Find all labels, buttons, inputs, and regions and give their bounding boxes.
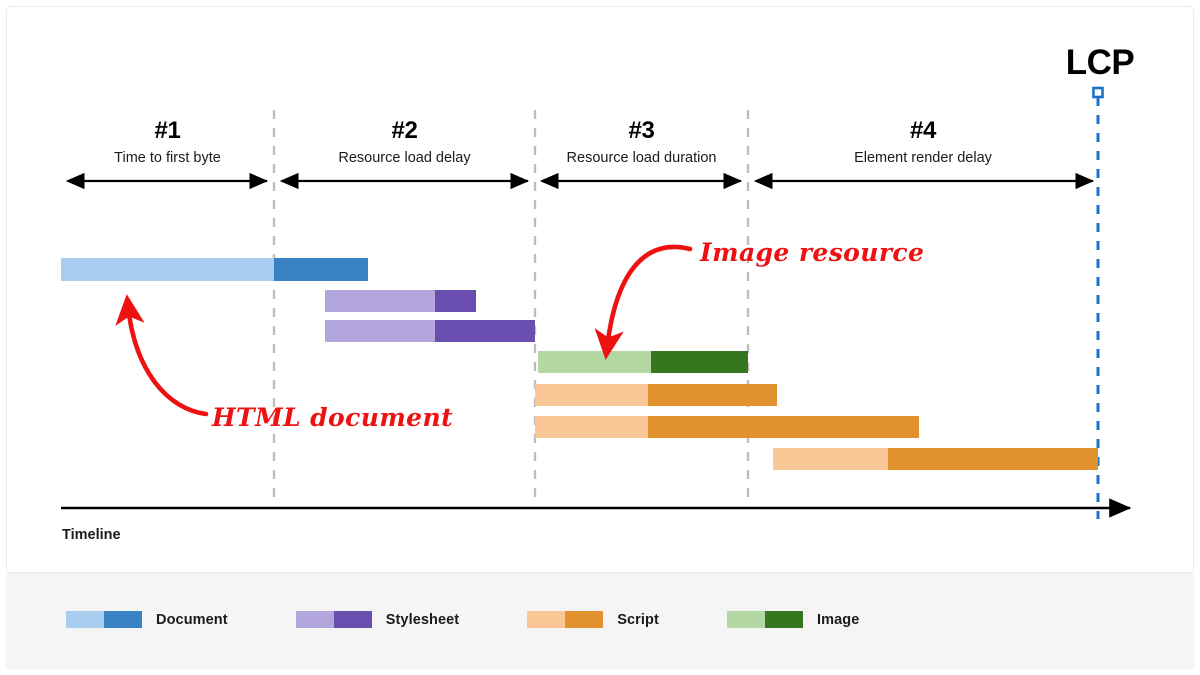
- legend-swatch-light: [727, 611, 765, 628]
- legend-item-document[interactable]: Document: [66, 611, 228, 628]
- bar-segment-pending: [325, 290, 435, 312]
- legend-swatch-dark: [765, 611, 803, 628]
- bar-segment-pending: [773, 448, 888, 470]
- bar-segment-transfer: [648, 384, 777, 406]
- image-resource-arrow: [607, 247, 690, 348]
- bar-segment-pending: [61, 258, 274, 281]
- diagram-canvas: [0, 0, 1200, 573]
- lcp-breakdown-diagram: #1 Time to first byte #2 Resource load d…: [0, 0, 1200, 675]
- html-document-arrow: [128, 306, 206, 414]
- phase-description-4: Element render delay: [748, 148, 1098, 168]
- legend-swatch-stylesheet: [296, 611, 372, 628]
- phase-header-3: #3 Resource load duration: [535, 118, 748, 168]
- legend-item-image[interactable]: Image: [727, 611, 859, 628]
- waterfall-bar-script-3: [773, 448, 1098, 470]
- legend-strip: DocumentStylesheetScriptImage: [6, 573, 1194, 669]
- legend-swatch-image: [727, 611, 803, 628]
- legend-swatch-dark: [104, 611, 142, 628]
- phase-number-4: #4: [748, 118, 1098, 144]
- legend-swatch-dark: [565, 611, 603, 628]
- legend-label: Stylesheet: [386, 612, 460, 628]
- waterfall-bar-document-1: [61, 258, 368, 281]
- annotation-image-resource: Image resource: [700, 238, 924, 267]
- legend-item-script[interactable]: Script: [527, 611, 659, 628]
- bar-segment-pending: [325, 320, 435, 342]
- lcp-marker-square: [1094, 88, 1103, 97]
- phase-header-2: #2 Resource load delay: [274, 118, 535, 168]
- phase-number-3: #3: [535, 118, 748, 144]
- phase-header-1: #1 Time to first byte: [61, 118, 274, 168]
- waterfall-bar-script-1: [535, 384, 777, 406]
- bar-segment-transfer: [435, 320, 535, 342]
- waterfall-bar-image-1: [538, 351, 748, 373]
- legend-swatch-light: [527, 611, 565, 628]
- legend-label: Script: [617, 612, 659, 628]
- lcp-label: LCP: [1040, 43, 1160, 83]
- bar-segment-pending: [535, 416, 648, 438]
- waterfall-bar-stylesheet-1: [325, 290, 476, 312]
- legend-label: Image: [817, 612, 859, 628]
- timeline-label: Timeline: [62, 527, 121, 543]
- phase-header-4: #4 Element render delay: [748, 118, 1098, 168]
- bar-segment-transfer: [274, 258, 368, 281]
- legend-items: DocumentStylesheetScriptImage: [66, 611, 859, 628]
- bar-segment-pending: [538, 351, 651, 373]
- phase-number-2: #2: [274, 118, 535, 144]
- annotation-html-document: HTML document: [212, 403, 453, 432]
- legend-swatch-document: [66, 611, 142, 628]
- legend-label: Document: [156, 612, 228, 628]
- legend-swatch-script: [527, 611, 603, 628]
- legend-swatch-light: [66, 611, 104, 628]
- bar-segment-transfer: [435, 290, 476, 312]
- bar-segment-transfer: [888, 448, 1098, 470]
- bar-segment-pending: [535, 384, 648, 406]
- legend-item-stylesheet[interactable]: Stylesheet: [296, 611, 460, 628]
- waterfall-bar-stylesheet-2: [325, 320, 535, 342]
- phase-description-3: Resource load duration: [535, 148, 748, 168]
- phase-description-1: Time to first byte: [61, 148, 274, 168]
- legend-swatch-dark: [334, 611, 372, 628]
- phase-number-1: #1: [61, 118, 274, 144]
- bar-segment-transfer: [648, 416, 919, 438]
- phase-description-2: Resource load delay: [274, 148, 535, 168]
- waterfall-bar-script-2: [535, 416, 919, 438]
- legend-swatch-light: [296, 611, 334, 628]
- bar-segment-transfer: [651, 351, 748, 373]
- waterfall-bars: [61, 258, 1098, 470]
